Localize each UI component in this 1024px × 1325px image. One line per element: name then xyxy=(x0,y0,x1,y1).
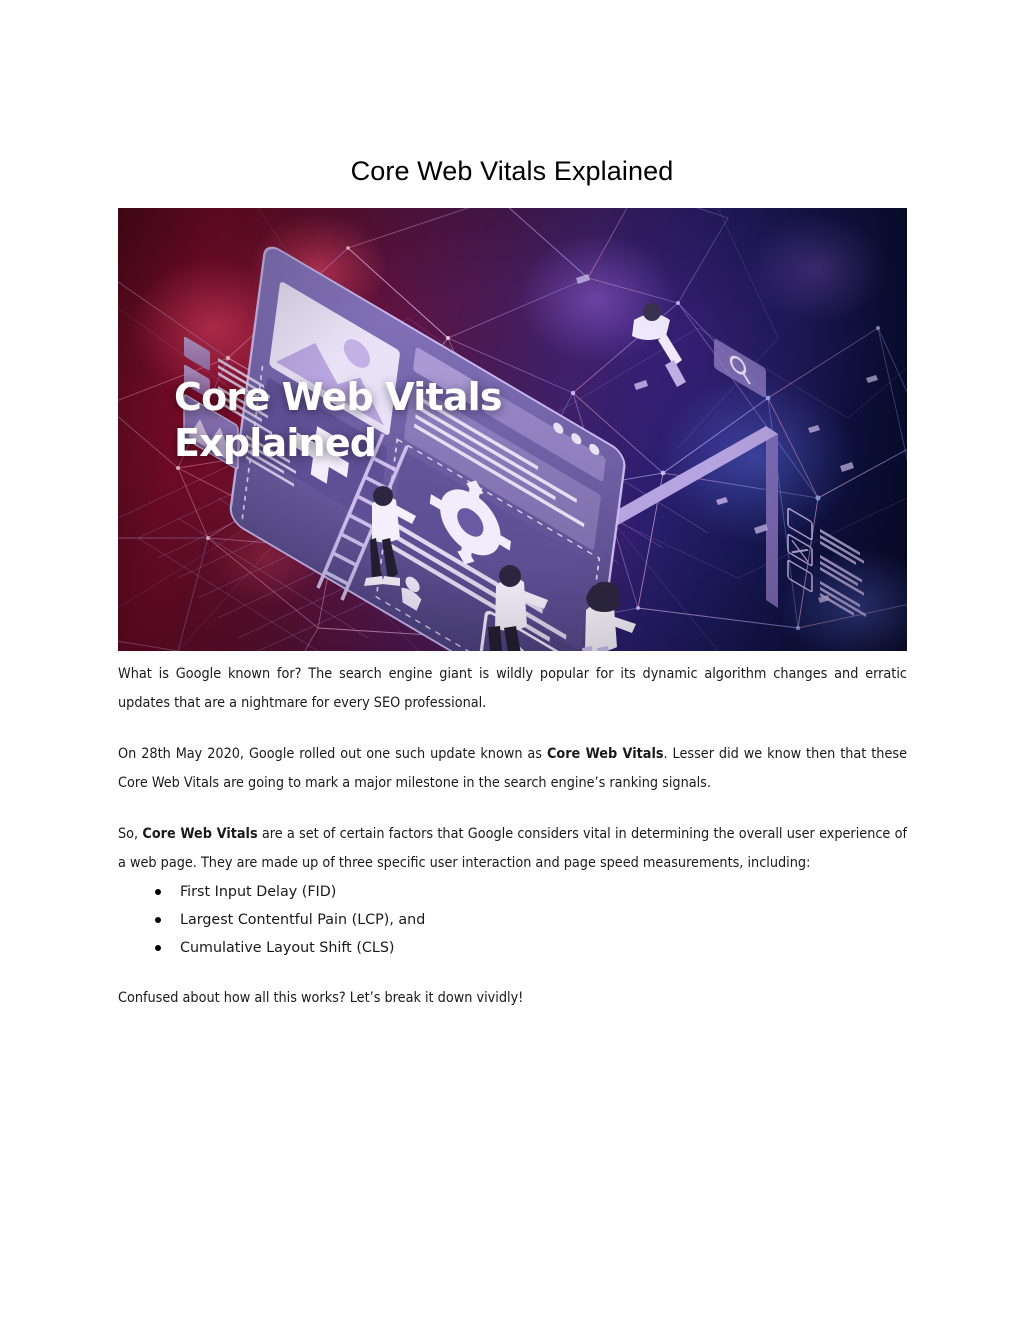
bullet-dot-icon xyxy=(155,889,161,895)
hero-overlay-line1: Core Web Vitals xyxy=(174,375,502,419)
list-item: Cumulative Layout Shift (CLS) xyxy=(118,934,907,962)
list-item-label: Cumulative Layout Shift (CLS) xyxy=(180,940,395,956)
list-item-label: First Input Delay (FID) xyxy=(180,884,336,900)
hero-banner-image: Core Web Vitals Explained xyxy=(118,208,907,651)
page-title: Core Web Vitals Explained xyxy=(0,155,1024,187)
paragraph-3: So, Core Web Vitals are a set of certain… xyxy=(118,820,907,878)
paragraph-2-bold-term: Core Web Vitals xyxy=(547,746,664,762)
bullet-dot-icon xyxy=(155,945,161,951)
paragraph-3-text-a: So, xyxy=(118,826,142,842)
paragraph-2: On 28th May 2020, Google rolled out one … xyxy=(118,740,907,798)
bullet-dot-icon xyxy=(155,917,161,923)
list-item-label: Largest Contentful Pain (LCP), and xyxy=(180,912,425,928)
document-page: Core Web Vitals Explained xyxy=(0,0,1024,1325)
paragraph-1: What is Google known for? The search eng… xyxy=(118,660,907,718)
hero-overlay-title: Core Web Vitals Explained xyxy=(174,374,594,466)
paragraph-2-text-a: On 28th May 2020, Google rolled out one … xyxy=(118,746,547,762)
list-item: Largest Contentful Pain (LCP), and xyxy=(118,906,907,934)
core-web-vitals-list: First Input Delay (FID) Largest Contentf… xyxy=(118,878,907,962)
paragraph-3-bold-term: Core Web Vitals xyxy=(142,826,257,842)
paragraph-4: Confused about how all this works? Let’s… xyxy=(118,984,907,1013)
hero-overlay-line2: Explained xyxy=(174,420,594,466)
article-body: What is Google known for? The search eng… xyxy=(118,660,907,1013)
list-item: First Input Delay (FID) xyxy=(118,878,907,906)
